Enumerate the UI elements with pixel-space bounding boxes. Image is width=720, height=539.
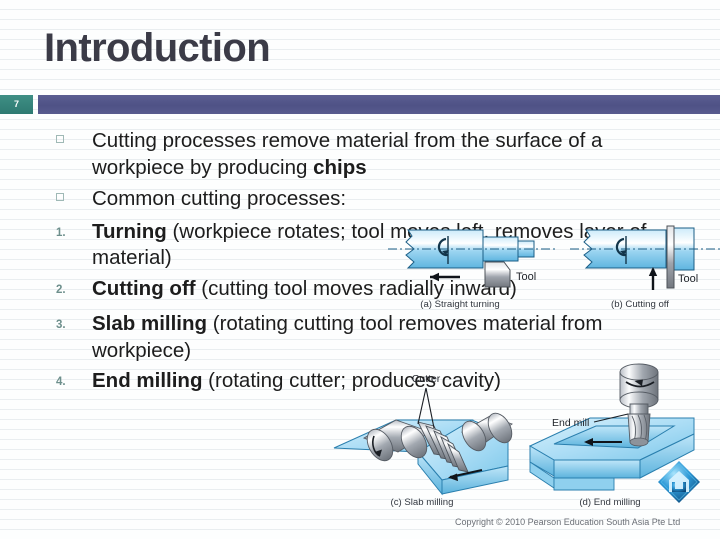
title-accent-bar	[38, 95, 720, 114]
list-item-text: Common cutting processes:	[92, 186, 668, 213]
page-number-badge: 7	[0, 95, 33, 114]
list-item: Common cutting processes:	[48, 186, 668, 213]
list-number-marker: 3.	[48, 311, 92, 341]
tool-label: Tool	[678, 273, 698, 285]
list-number-marker: 2.	[48, 276, 92, 306]
bullet-square-icon	[48, 128, 92, 155]
list-number-label: 4.	[56, 376, 66, 388]
slide-canvas: Introduction 7 Cutting processes remove …	[0, 0, 720, 539]
list-number-marker: 4.	[48, 368, 92, 398]
page-title: Introduction	[44, 28, 270, 68]
figure-caption: (d) End milling	[579, 497, 640, 508]
list-item-text-emphasis: Cutting off	[92, 277, 196, 300]
list-item-text-emphasis: Slab milling	[92, 312, 207, 335]
list-item-text-emphasis: End milling	[92, 369, 202, 392]
list-item: Cutting processes remove material from t…	[48, 128, 668, 181]
bullet-square-icon	[48, 186, 92, 213]
diagram-straight-turning: Tool (a) Straight turning	[388, 230, 558, 310]
tool-label: Tool	[516, 271, 536, 283]
list-number-label: 1.	[56, 227, 66, 239]
list-item-text: Cutting processes remove material from t…	[92, 128, 668, 181]
list-number-label: 2.	[56, 284, 66, 296]
cutter-label: Cutter	[412, 373, 441, 385]
diagram-cutting-off: Tool (b) Cutting off	[570, 226, 720, 310]
end-mill-label: End mill	[552, 417, 589, 429]
pearson-diamond-logo	[655, 458, 703, 506]
list-item-text-emphasis: Turning	[92, 220, 167, 243]
figure-caption: (c) Slab milling	[391, 497, 454, 508]
list-item-text: Slab milling (rotating cutting tool remo…	[92, 311, 668, 364]
figure-caption: (a) Straight turning	[420, 299, 499, 310]
list-item: 3. Slab milling (rotating cutting tool r…	[48, 311, 668, 364]
figure-caption: (b) Cutting off	[611, 299, 669, 310]
diagram-slab-milling: Cutter (c) Slab milling	[334, 373, 517, 508]
figure-turning-and-cuttingoff: Tool (a) Straight turning Tool (b) Cutti…	[388, 212, 720, 312]
list-number-marker: 1.	[48, 219, 92, 249]
list-number-label: 3.	[56, 319, 66, 331]
list-item-text-segment: Common cutting processes:	[92, 187, 346, 210]
copyright-notice: Copyright © 2010 Pearson Education South…	[455, 517, 680, 527]
list-item-text-emphasis: chips	[313, 156, 367, 179]
